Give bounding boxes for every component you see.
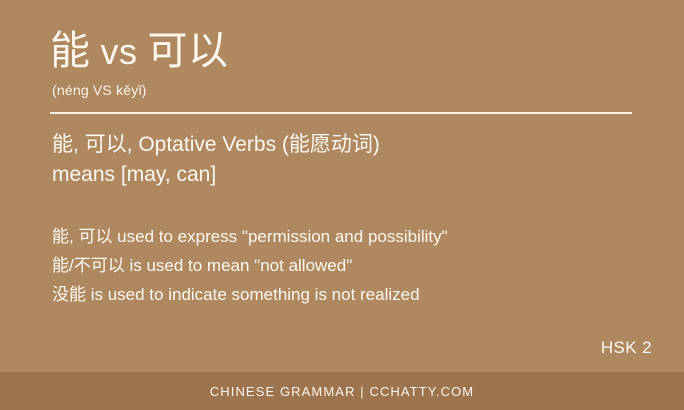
footer-credit: CHINESE GRAMMAR | CCHATTY.COM [210,384,474,399]
definition-line-1: 能, 可以, Optative Verbs (能愿动词) [52,130,380,160]
grammar-card: 能vs可以 (néng VS kěyǐ) 能, 可以, Optative Ver… [0,0,684,410]
card-content: 能vs可以 (néng VS kěyǐ) 能, 可以, Optative Ver… [50,0,652,372]
header-divider [50,112,632,114]
title-hanzi-right: 可以 [148,29,229,73]
title-separator: vs [101,31,138,72]
title-pinyin: (néng VS kěyǐ) [52,82,147,98]
usage-notes: 能, 可以 used to express "permission and po… [52,222,448,309]
title-hanzi-left: 能 [50,29,91,73]
page-title: 能vs可以 [50,28,229,74]
hsk-level-badge: HSK 2 [601,338,652,358]
usage-note-2: 能/不可以 is used to mean "not allowed" [52,251,448,280]
footer-bar: CHINESE GRAMMAR | CCHATTY.COM [0,372,684,410]
definition-line-2: means [may, can] [52,160,380,190]
usage-note-1: 能, 可以 used to express "permission and po… [52,222,448,251]
definition-block: 能, 可以, Optative Verbs (能愿动词) means [may,… [52,130,380,190]
usage-note-3: 没能 is used to indicate something is not … [52,280,448,309]
